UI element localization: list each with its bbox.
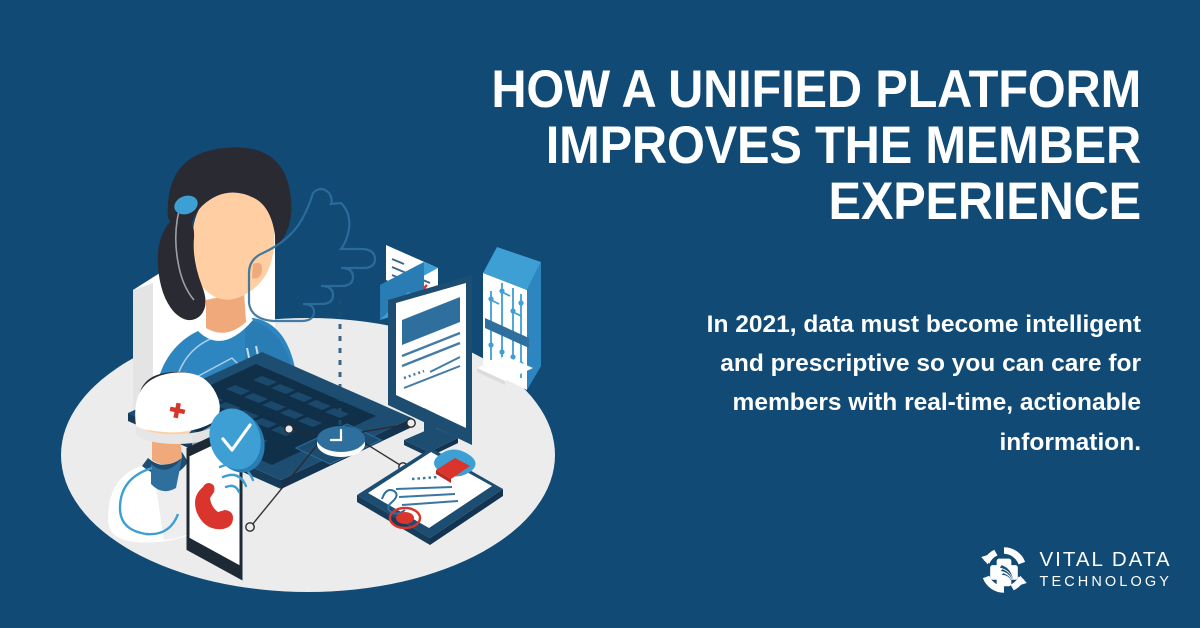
page-title: HOW A UNIFIED PLATFORM IMPROVES THE MEMB… xyxy=(442,62,1141,231)
logo-line-2: TECHNOLOGY xyxy=(1039,575,1172,590)
logo-wordmark: VITAL DATA TECHNOLOGY xyxy=(1039,550,1172,590)
clock-hub-node xyxy=(317,426,365,457)
circular-arrows-medical-cross-icon xyxy=(978,544,1030,596)
banner-canvas: HOW A UNIFIED PLATFORM IMPROVES THE MEMB… xyxy=(0,0,1200,628)
server-rack xyxy=(477,247,541,390)
logo-line-1: VITAL DATA xyxy=(1039,550,1172,571)
brand-logo[interactable]: VITAL DATA TECHNOLOGY xyxy=(978,544,1172,596)
subheadline-paragraph: In 2021, data must become intelligent an… xyxy=(671,305,1141,462)
